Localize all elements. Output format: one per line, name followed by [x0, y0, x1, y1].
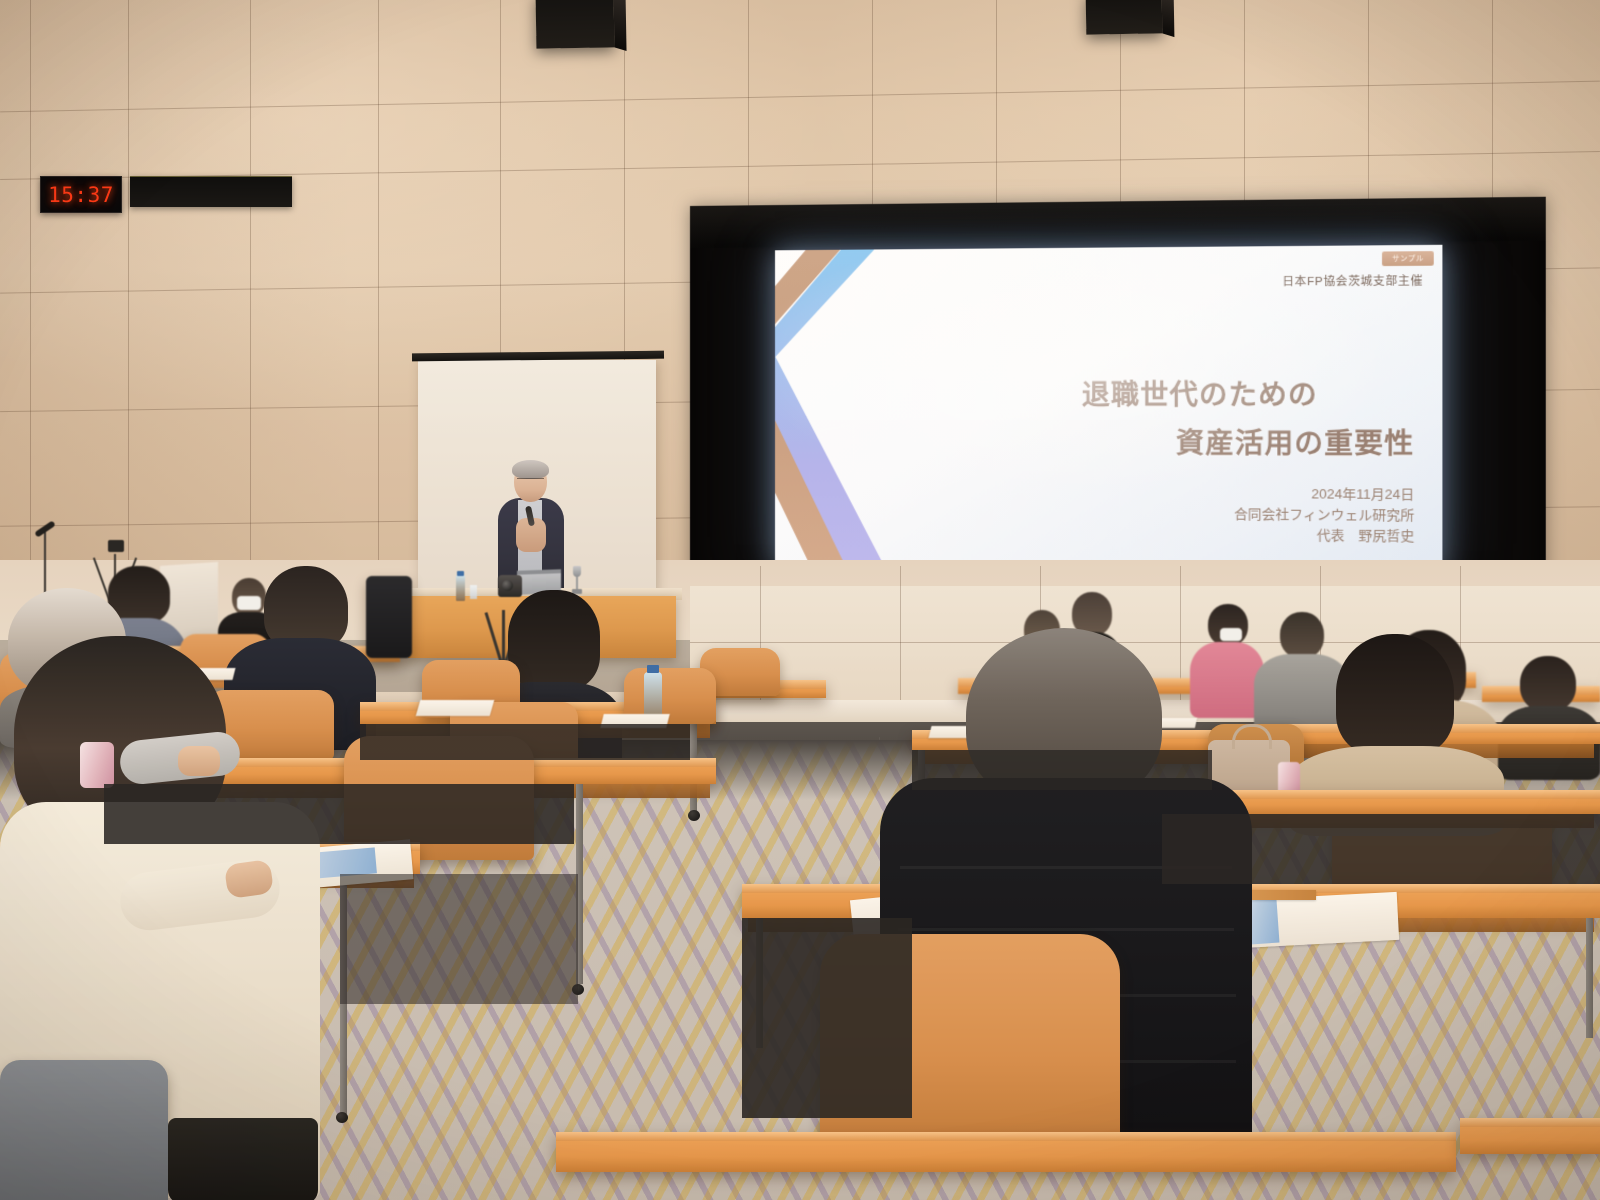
presenter-hair — [512, 460, 549, 479]
handbag — [168, 1118, 318, 1200]
message-board — [130, 176, 292, 207]
screen-recess-lip — [690, 197, 1546, 248]
slide-date: 2024年11月24日 — [1234, 483, 1414, 505]
water-bottle — [456, 575, 465, 601]
handout-papers — [416, 700, 495, 716]
microphone-stand — [44, 532, 46, 594]
left-ceiling-speaker — [536, 0, 615, 49]
slide-title-line2: 資産活用の重要性 — [775, 420, 1414, 461]
slide-badge: サンプル — [1382, 251, 1434, 266]
pink-pouch — [80, 742, 114, 788]
clock-time: 15:37 — [48, 183, 114, 207]
presenter-glasses — [517, 478, 544, 484]
slide-company: 合同会社フィンウェル研究所 — [1234, 504, 1414, 526]
attendee-far-right — [1498, 656, 1600, 776]
attendee-hand — [178, 746, 220, 776]
wall-clock: 15:37 — [40, 176, 122, 213]
table-row — [1460, 1118, 1600, 1154]
slide-meta: 2024年11月24日 合同会社フィンウェル研究所 代表 野尻哲史 — [1234, 483, 1414, 547]
slide-title: 退職世代のための 資産活用の重要性 — [775, 372, 1414, 462]
slide-title-line1: 退職世代のための — [775, 372, 1414, 413]
slide-presenter: 代表 野尻哲史 — [1234, 525, 1414, 547]
pulldown-screen-bar — [412, 351, 664, 362]
slide-host-line: 日本FP協会茨城支部主催 — [1282, 272, 1423, 289]
seminar-room-photo: 15:37 サンプル 日本FP協会茨城支部主催 退職世代のための 資産活用の重要… — [0, 0, 1600, 1200]
projection-screen-recess: サンプル 日本FP協会茨城支部主催 退職世代のための 資産活用の重要性 2024… — [690, 197, 1546, 598]
table-row — [556, 1132, 1456, 1172]
presentation-slide: サンプル 日本FP協会茨城支部主催 退職世代のための 資産活用の重要性 2024… — [775, 245, 1442, 574]
right-ceiling-speaker — [1086, 0, 1163, 35]
chair — [0, 1060, 168, 1200]
drinking-glass — [470, 585, 477, 599]
